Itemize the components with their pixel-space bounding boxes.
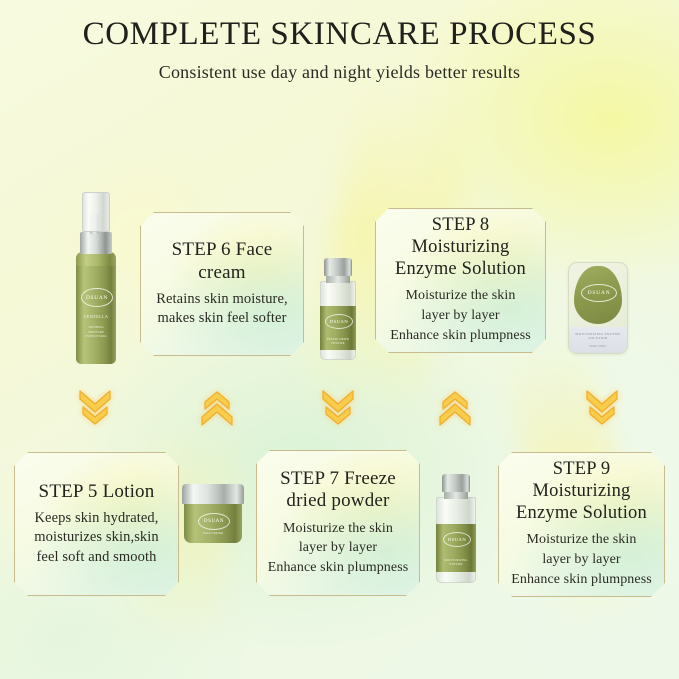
step-card-title: STEP 7 Freeze dried powder [280,468,396,513]
jar-lid [182,484,244,504]
bottle-shoulder [76,252,116,266]
arrow-up-4-icon [438,388,472,428]
step-card-description: Retains skin moisture, makes skin feel s… [156,290,287,329]
sachet-bottom-strip [569,327,627,353]
arrow-down-1-icon [78,388,112,428]
step-card-description: Keeps skin hydrated, moisturizes skin,sk… [34,509,159,567]
jar-product-line: FACE CREAM [193,531,233,535]
step-card-step9[interactable]: STEP 9 Moisturizing Enzyme Solution Mois… [498,452,665,597]
step-card-title: STEP 8 Moisturizing Enzyme Solution [395,215,526,280]
product-lotion-bottle: DSUAN CENTELLA SOOTHING MOISTURE ESSENCE… [72,192,120,364]
step-card-title: STEP 5 Lotion [39,481,155,503]
step-card-step6[interactable]: STEP 6 Face cream Retains skin moisture,… [140,212,304,356]
product-vial-freeze-dried-powder: DSUAN FREEZE DRIED POWDER [318,258,358,362]
page-subtitle: Consistent use day and night yields bett… [0,62,679,83]
vial-cap [324,258,352,276]
step-card-step5[interactable]: STEP 5 Lotion Keeps skin hydrated, moist… [14,452,179,596]
vial-product-line: MOISTURIZING ENZYME [438,558,474,566]
step-card-description: Moisturize the skin layer by layer Enhan… [390,286,531,346]
vial-cap [442,474,470,492]
product-cream-jar: DSUAN FACE CREAM [182,484,244,546]
step-card-step8[interactable]: STEP 8 Moisturizing Enzyme Solution Mois… [375,208,546,353]
step-card-description: Moisturize the skin layer by layer Enhan… [511,530,652,590]
product-sachet-enzyme-solution: DSUAN MOISTURIZING ENZYME SOLUTION MASK … [568,262,628,354]
step-card-title: STEP 6 Face cream [172,239,273,284]
arrow-down-5-icon [585,388,619,428]
product-vial-enzyme-solution: DSUAN MOISTURIZING ENZYME [434,474,478,586]
sachet-product-subline: MASK SHEET [572,345,624,348]
bottle-collar [80,232,112,254]
vial-brand-label: DSUAN [325,314,353,329]
page-title: COMPLETE SKINCARE PROCESS [0,16,679,53]
arrow-up-2-icon [200,388,234,428]
sachet-brand-label: DSUAN [581,284,617,302]
step-card-description: Moisturize the skin layer by layer Enhan… [268,519,409,579]
vial-brand-label: DSUAN [443,532,471,547]
step-card-step7[interactable]: STEP 7 Freeze dried powder Moisturize th… [256,450,420,596]
bottle-product-line: CENTELLA [82,314,110,319]
arrow-down-3-icon [321,388,355,428]
bottle-cap [82,192,110,232]
infographic-canvas: COMPLETE SKINCARE PROCESS Consistent use… [0,0,679,679]
jar-brand-label: DSUAN [198,513,230,530]
bottle-product-subline: SOOTHING MOISTURE ESSENCE MILK [81,325,111,339]
sachet-product-line: MOISTURIZING ENZYME SOLUTION [572,332,624,340]
bottle-brand-label: DSUAN [81,288,113,307]
step-card-title: STEP 9 Moisturizing Enzyme Solution [516,459,647,524]
vial-product-line: FREEZE DRIED POWDER [322,337,354,345]
